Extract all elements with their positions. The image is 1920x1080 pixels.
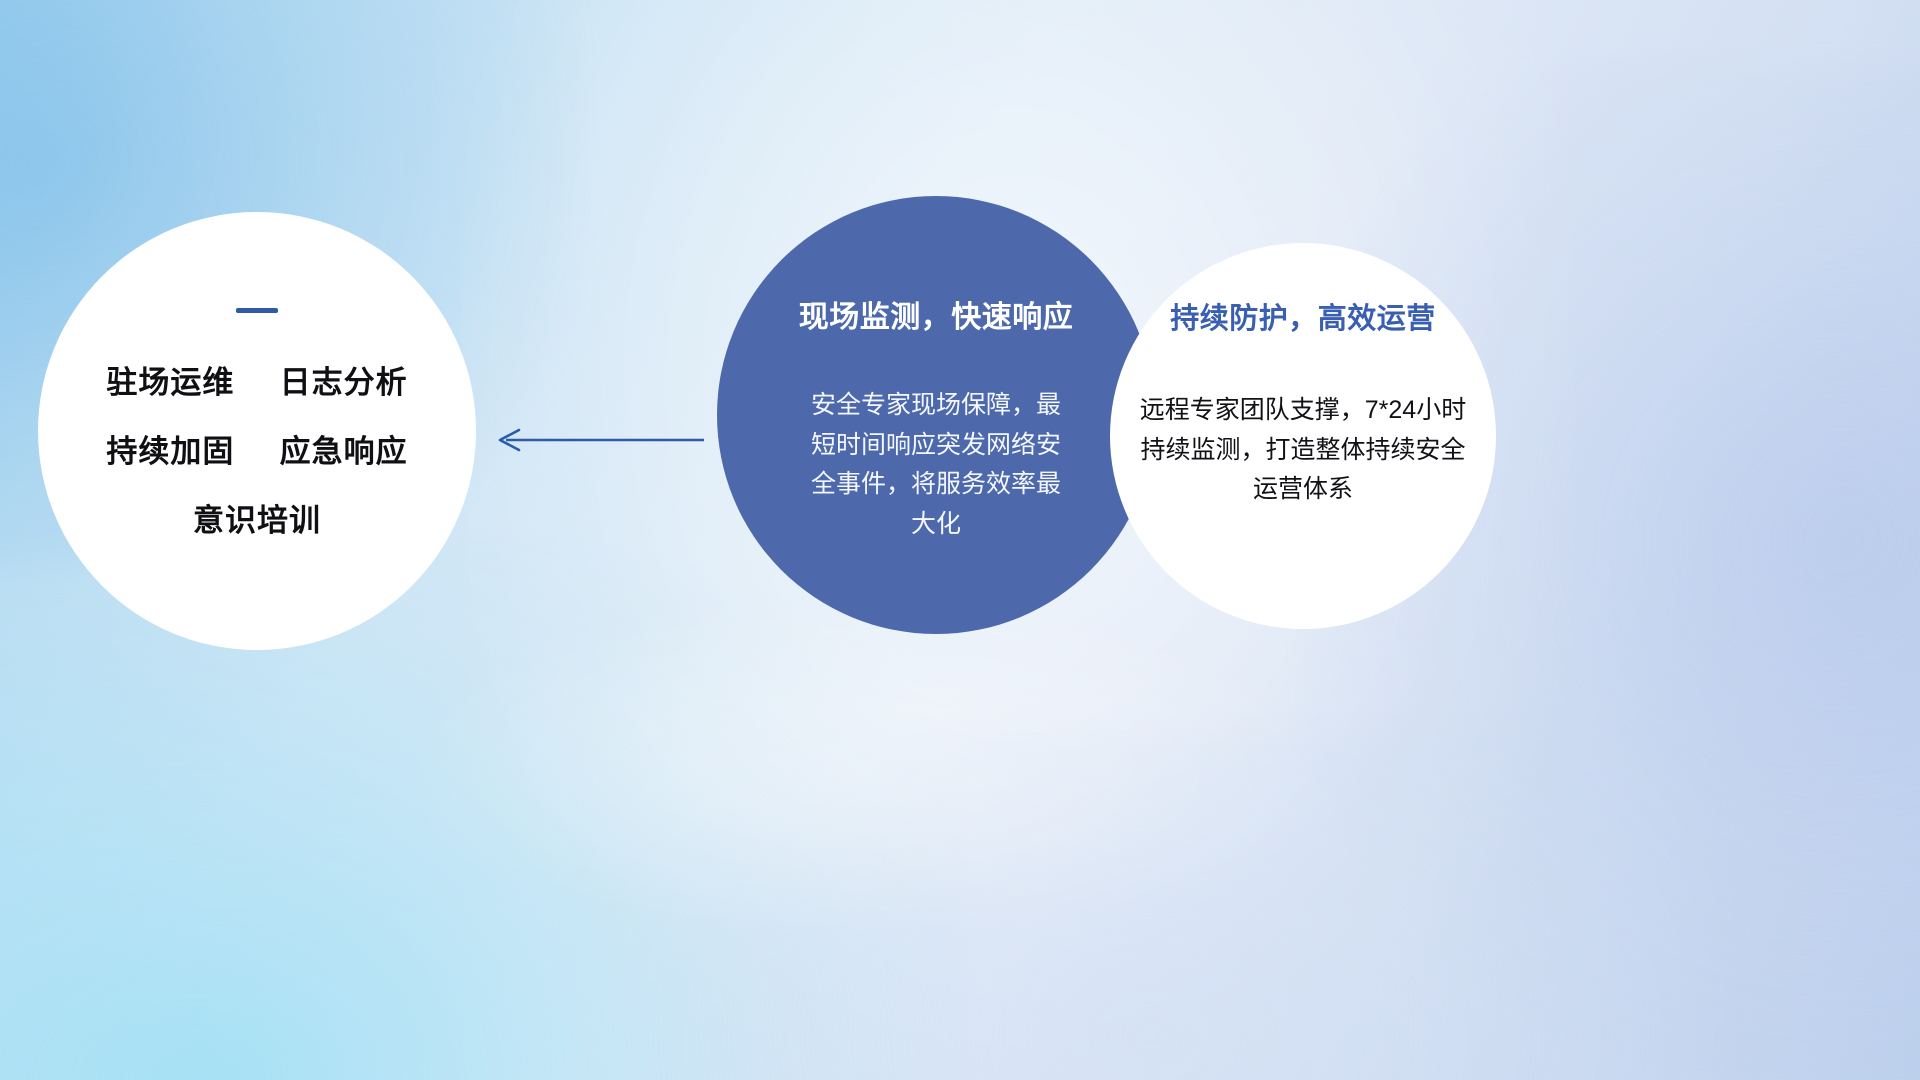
continuous-protection-circle[interactable]: 持续防护，高效运营 远程专家团队支撑，7*24小时持续监测，打造整体持续安全运营… — [1110, 243, 1496, 629]
capability-row: 持续加固 应急响应 — [64, 426, 450, 471]
capabilities-content: 驻场运维 日志分析 持续加固 应急响应 意识培训 — [38, 308, 476, 540]
onsite-monitoring-title: 现场监测，快速响应 — [737, 292, 1135, 336]
continuous-protection-title: 持续防护，高效运营 — [1124, 295, 1482, 337]
continuous-protection-body: 远程专家团队支撑，7*24小时持续监测，打造整体持续安全运营体系 — [1138, 391, 1468, 510]
capability-label: 持续加固 — [106, 434, 234, 469]
onsite-monitoring-circle[interactable]: 现场监测，快速响应 安全专家现场保障，最短时间响应突发网络安全事件，将服务效率最… — [717, 196, 1155, 634]
onsite-monitoring-content: 现场监测，快速响应 安全专家现场保障，最短时间响应突发网络安全事件，将服务效率最… — [717, 292, 1155, 544]
capability-row: 驻场运维 日志分析 — [64, 357, 450, 402]
capabilities-circle[interactable]: 驻场运维 日志分析 持续加固 应急响应 意识培训 — [38, 212, 476, 650]
onsite-monitoring-body: 安全专家现场保障，最短时间响应突发网络安全事件，将服务效率最大化 — [800, 386, 1072, 544]
capability-label: 应急响应 — [280, 434, 408, 469]
capability-label: 意识培训 — [193, 503, 321, 538]
capability-row: 意识培训 — [64, 495, 450, 540]
arrow-left-icon — [492, 424, 708, 456]
capability-label: 日志分析 — [280, 365, 408, 400]
background-sheen — [422, 605, 1305, 929]
title-divider — [236, 308, 278, 313]
slide-canvas: 驻场运维 日志分析 持续加固 应急响应 意识培训 现场监测，快速响应 安全专家现… — [0, 0, 1920, 1080]
capability-label: 驻场运维 — [106, 365, 234, 400]
continuous-protection-content: 持续防护，高效运营 远程专家团队支撑，7*24小时持续监测，打造整体持续安全运营… — [1110, 295, 1496, 510]
